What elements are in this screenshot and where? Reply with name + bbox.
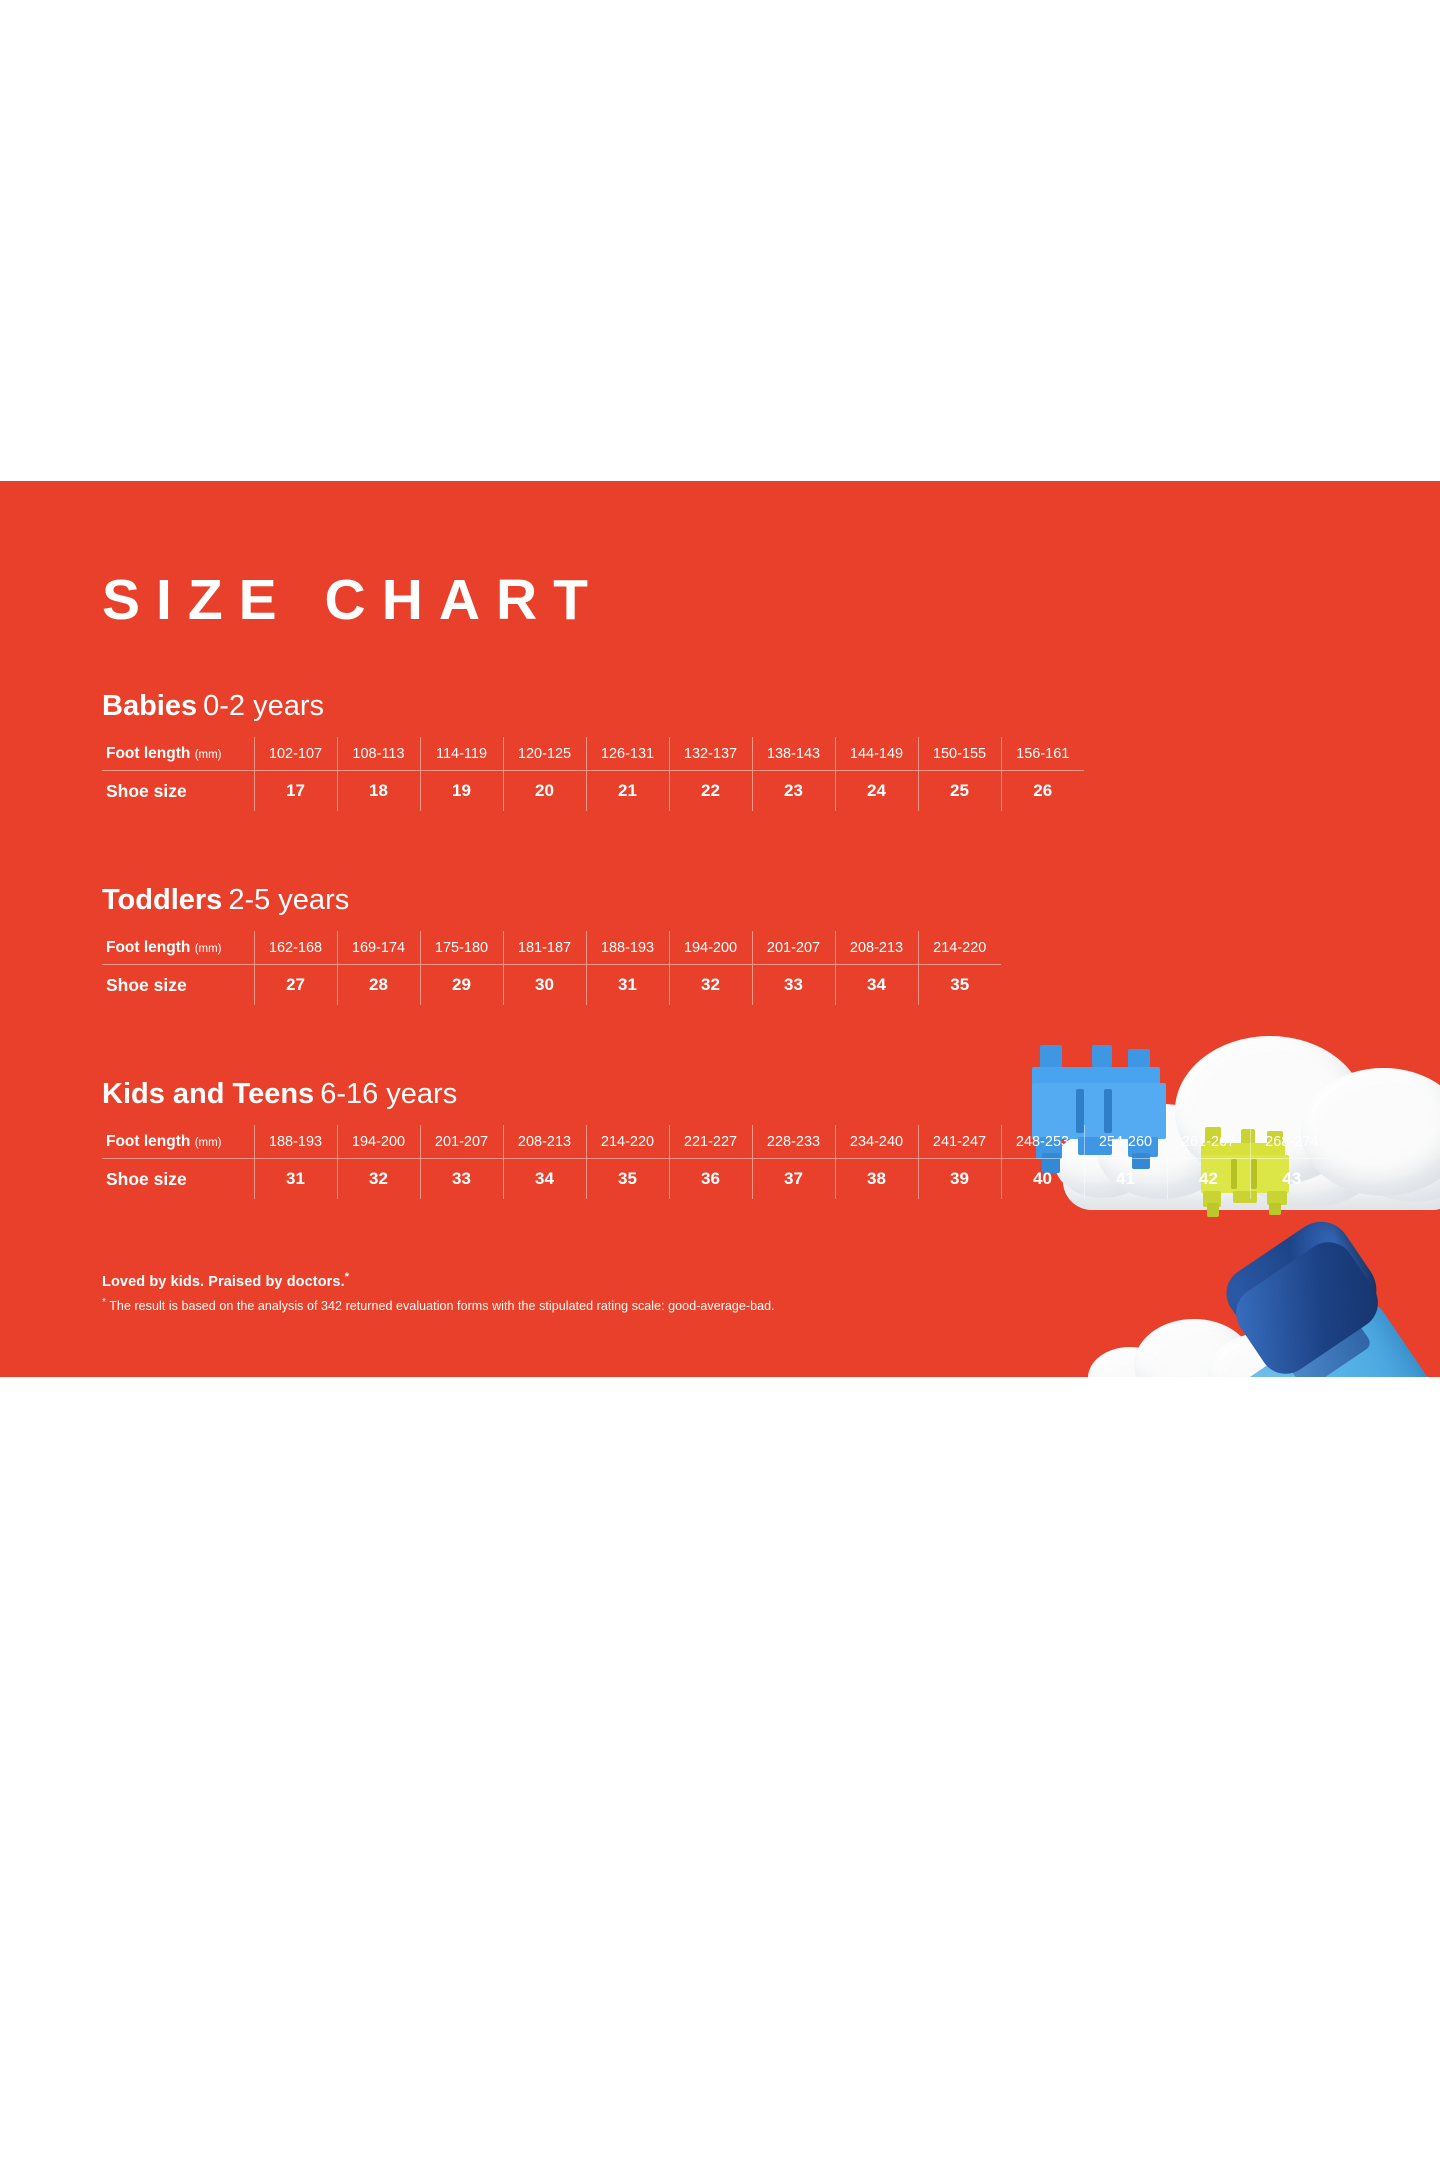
cell-foot-length: 234-240: [835, 1125, 918, 1159]
cell-shoe-size: 30: [503, 965, 586, 1005]
cloud-puff: [1266, 1345, 1358, 1377]
footer-note-text: The result is based on the analysis of 3…: [106, 1299, 775, 1313]
cell-foot-length: 228-233: [752, 1125, 835, 1159]
cell-shoe-size: 27: [254, 965, 337, 1005]
page-title: SIZE CHART: [102, 572, 604, 629]
page-root: SIZE CHART Babies0-2 years Foot length (…: [0, 0, 1440, 2160]
cell-foot-length: 138-143: [752, 737, 835, 771]
cloud-puff: [1355, 1122, 1440, 1202]
cell-shoe-size: 21: [586, 771, 669, 811]
cell-shoe-size: 38: [835, 1159, 918, 1199]
footnote-marker: *: [345, 1271, 349, 1283]
cell-shoe-size: 35: [918, 965, 1001, 1005]
cell-foot-length: 254-260: [1084, 1125, 1167, 1159]
cell-foot-length: 208-213: [503, 1125, 586, 1159]
cloud-puff: [1134, 1319, 1254, 1377]
cell-shoe-size: 23: [752, 771, 835, 811]
cell-foot-length: 126-131: [586, 737, 669, 771]
section-age-range: 2-5 years: [228, 884, 349, 916]
row-label-shoe-size: Shoe size: [102, 1159, 254, 1199]
cloud-illustration-bottom: [1080, 1319, 1380, 1377]
table-row-shoe-size: Shoe size 17 18 19 20 21 22 23 24 25 26: [102, 771, 1084, 811]
foot-length-unit: (mm): [195, 749, 222, 761]
poster-footer: Loved by kids. Praised by doctors.* * Th…: [102, 1271, 1202, 1313]
cell-shoe-size: 20: [503, 771, 586, 811]
cell-shoe-size: 34: [835, 965, 918, 1005]
section-kids-and-teens: Kids and Teens6-16 years Foot length (mm…: [102, 1079, 1342, 1199]
row-label-foot-length: Foot length (mm): [102, 931, 254, 965]
cell-shoe-size: 29: [420, 965, 503, 1005]
cell-shoe-size: 26: [1001, 771, 1084, 811]
bottle-illustration: [1207, 1239, 1440, 1377]
cell-shoe-size: 31: [586, 965, 669, 1005]
cell-foot-length: 162-168: [254, 931, 337, 965]
cell-foot-length: 102-107: [254, 737, 337, 771]
table-row-shoe-size: Shoe size 31 32 33 34 35 36 37 38 39 40 …: [102, 1159, 1333, 1199]
table-row-foot-length: Foot length (mm) 188-193 194-200 201-207…: [102, 1125, 1333, 1159]
section-group-name: Kids and Teens: [102, 1078, 314, 1110]
cell-shoe-size: 36: [669, 1159, 752, 1199]
cell-shoe-size: 33: [752, 965, 835, 1005]
cell-shoe-size: 35: [586, 1159, 669, 1199]
bottle-neck: [1271, 1295, 1373, 1377]
section-group-name: Toddlers: [102, 884, 222, 916]
cell-shoe-size: 19: [420, 771, 503, 811]
cell-foot-length: 114-119: [420, 737, 503, 771]
size-table-babies: Foot length (mm) 102-107 108-113 114-119…: [102, 737, 1084, 811]
cell-foot-length: 221-227: [669, 1125, 752, 1159]
cell-shoe-size: 41: [1084, 1159, 1167, 1199]
cell-shoe-size: 25: [918, 771, 1001, 811]
cell-foot-length: 194-200: [337, 1125, 420, 1159]
footer-tagline: Loved by kids. Praised by doctors.*: [102, 1271, 1202, 1290]
cloud-base-shape: [1080, 1371, 1362, 1377]
cell-shoe-size: 32: [669, 965, 752, 1005]
row-label-foot-length: Foot length (mm): [102, 1125, 254, 1159]
cell-foot-length: 214-220: [918, 931, 1001, 965]
cell-shoe-size: 40: [1001, 1159, 1084, 1199]
cell-shoe-size: 22: [669, 771, 752, 811]
foot-length-text: Foot length: [106, 939, 190, 956]
section-heading-kids-and-teens: Kids and Teens6-16 years: [102, 1079, 1342, 1111]
cell-shoe-size: 39: [918, 1159, 1001, 1199]
cell-foot-length: 214-220: [586, 1125, 669, 1159]
cell-shoe-size: 33: [420, 1159, 503, 1199]
foot-length-unit: (mm): [195, 943, 222, 955]
cell-foot-length: 188-193: [254, 1125, 337, 1159]
cell-foot-length: 208-213: [835, 931, 918, 965]
cell-shoe-size: 28: [337, 965, 420, 1005]
bottle-cap: [1216, 1210, 1389, 1376]
cell-shoe-size: 17: [254, 771, 337, 811]
cell-shoe-size: 37: [752, 1159, 835, 1199]
footer-note: * The result is based on the analysis of…: [102, 1297, 1202, 1313]
table-row-shoe-size: Shoe size 27 28 29 30 31 32 33 34 35: [102, 965, 1001, 1005]
section-age-range: 6-16 years: [320, 1078, 457, 1110]
cell-shoe-size: 18: [337, 771, 420, 811]
cell-shoe-size: 31: [254, 1159, 337, 1199]
size-table-kids-and-teens: Foot length (mm) 188-193 194-200 201-207…: [102, 1125, 1333, 1199]
row-label-foot-length: Foot length (mm): [102, 737, 254, 771]
section-heading-toddlers: Toddlers2-5 years: [102, 885, 1342, 917]
foot-length-text: Foot length: [106, 745, 190, 762]
cell-shoe-size: 32: [337, 1159, 420, 1199]
row-label-shoe-size: Shoe size: [102, 965, 254, 1005]
cell-foot-length: 156-161: [1001, 737, 1084, 771]
size-chart-poster: SIZE CHART Babies0-2 years Foot length (…: [0, 481, 1440, 1377]
cell-foot-length: 201-207: [752, 931, 835, 965]
row-label-shoe-size: Shoe size: [102, 771, 254, 811]
foot-length-text: Foot length: [106, 1133, 190, 1150]
cell-foot-length: 175-180: [420, 931, 503, 965]
cell-shoe-size: 34: [503, 1159, 586, 1199]
section-group-name: Babies: [102, 690, 197, 722]
cell-foot-length: 144-149: [835, 737, 918, 771]
bottle-body: [1233, 1295, 1440, 1377]
section-age-range: 0-2 years: [203, 690, 324, 722]
bottle-cap-ring: [1226, 1232, 1388, 1377]
cell-foot-length: 169-174: [337, 931, 420, 965]
cell-shoe-size: 43: [1250, 1159, 1333, 1199]
cell-foot-length: 150-155: [918, 737, 1001, 771]
cell-foot-length: 248-253: [1001, 1125, 1084, 1159]
cell-foot-length: 241-247: [918, 1125, 1001, 1159]
cell-foot-length: 261-267: [1167, 1125, 1250, 1159]
cell-shoe-size: 42: [1167, 1159, 1250, 1199]
cell-foot-length: 181-187: [503, 931, 586, 965]
cell-foot-length: 132-137: [669, 737, 752, 771]
footer-tagline-text: Loved by kids. Praised by doctors.: [102, 1274, 345, 1290]
cloud-puff: [1208, 1333, 1318, 1377]
section-babies: Babies0-2 years Foot length (mm) 102-107…: [102, 691, 1342, 811]
cell-foot-length: 188-193: [586, 931, 669, 965]
cell-foot-length: 194-200: [669, 931, 752, 965]
cloud-puff: [1088, 1347, 1172, 1377]
cell-foot-length: 201-207: [420, 1125, 503, 1159]
table-row-foot-length: Foot length (mm) 102-107 108-113 114-119…: [102, 737, 1084, 771]
section-heading-babies: Babies0-2 years: [102, 691, 1342, 723]
cell-foot-length: 108-113: [337, 737, 420, 771]
cell-foot-length: 120-125: [503, 737, 586, 771]
size-table-toddlers: Foot length (mm) 162-168 169-174 175-180…: [102, 931, 1001, 1005]
cell-shoe-size: 24: [835, 771, 918, 811]
cell-foot-length: 268-274: [1250, 1125, 1333, 1159]
foot-length-unit: (mm): [195, 1137, 222, 1149]
section-toddlers: Toddlers2-5 years Foot length (mm) 162-1…: [102, 885, 1342, 1005]
table-row-foot-length: Foot length (mm) 162-168 169-174 175-180…: [102, 931, 1001, 965]
